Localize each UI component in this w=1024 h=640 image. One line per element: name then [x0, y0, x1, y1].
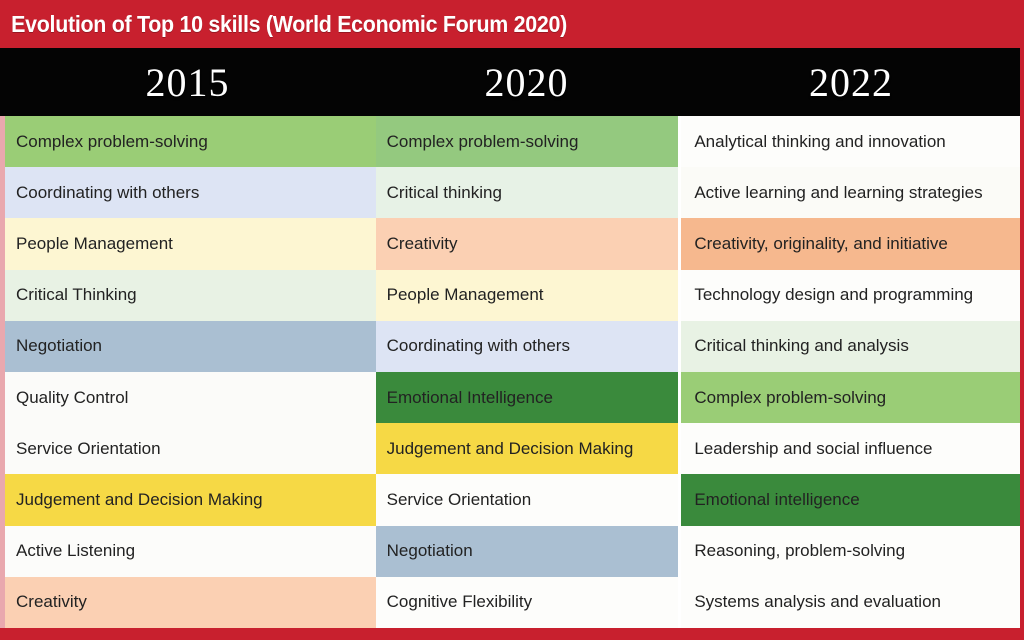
skill-cell: Coordinating with others	[5, 167, 376, 218]
skill-cell: People Management	[376, 270, 679, 321]
skill-cell: Cognitive Flexibility	[376, 577, 679, 628]
column-header-2015: 2015	[0, 48, 375, 116]
skill-cell: Service Orientation	[5, 423, 376, 474]
skill-cell: Emotional intelligence	[681, 474, 1024, 525]
skill-cell: Judgement and Decision Making	[5, 474, 376, 525]
skill-cell: Critical thinking	[376, 167, 679, 218]
column-header-2022: 2022	[678, 48, 1024, 116]
skill-cell: Reasoning, problem-solving	[681, 526, 1024, 577]
skills-column-2022: Analytical thinking and innovationActive…	[678, 116, 1024, 628]
skill-cell: Systems analysis and evaluation	[681, 577, 1024, 628]
skill-cell: Active learning and learning strategies	[681, 167, 1024, 218]
skill-cell: Analytical thinking and innovation	[681, 116, 1024, 167]
skill-cell: Creativity, originality, and initiative	[681, 218, 1024, 269]
year-header-row: 2015 2020 2022	[0, 48, 1024, 116]
skill-cell: Creativity	[376, 218, 679, 269]
title-banner: Evolution of Top 10 skills (World Econom…	[0, 0, 1024, 48]
infographic-root: Evolution of Top 10 skills (World Econom…	[0, 0, 1024, 640]
skills-table: Complex problem-solvingCoordinating with…	[0, 116, 1024, 628]
skills-column-2015: Complex problem-solvingCoordinating with…	[5, 116, 376, 628]
skill-cell: Leadership and social influence	[681, 423, 1024, 474]
skill-cell: Complex problem-solving	[376, 116, 679, 167]
column-header-2020: 2020	[375, 48, 678, 116]
skill-cell: Complex problem-solving	[5, 116, 376, 167]
skill-cell: Complex problem-solving	[681, 372, 1024, 423]
skill-cell: Creativity	[5, 577, 376, 628]
right-edge-accent	[1020, 48, 1024, 628]
skill-cell: Critical Thinking	[5, 270, 376, 321]
skill-cell: People Management	[5, 218, 376, 269]
skill-cell: Judgement and Decision Making	[376, 423, 679, 474]
skill-cell: Critical thinking and analysis	[681, 321, 1024, 372]
skill-cell: Emotional Intelligence	[376, 372, 679, 423]
bottom-accent-bar	[0, 628, 1024, 640]
skills-column-2020: Complex problem-solvingCritical thinking…	[376, 116, 679, 628]
skill-cell: Technology design and programming	[681, 270, 1024, 321]
skill-cell: Active Listening	[5, 526, 376, 577]
page-title: Evolution of Top 10 skills (World Econom…	[0, 11, 567, 38]
skill-cell: Negotiation	[376, 526, 679, 577]
skill-cell: Quality Control	[5, 372, 376, 423]
skill-cell: Service Orientation	[376, 474, 679, 525]
skill-cell: Coordinating with others	[376, 321, 679, 372]
skill-cell: Negotiation	[5, 321, 376, 372]
